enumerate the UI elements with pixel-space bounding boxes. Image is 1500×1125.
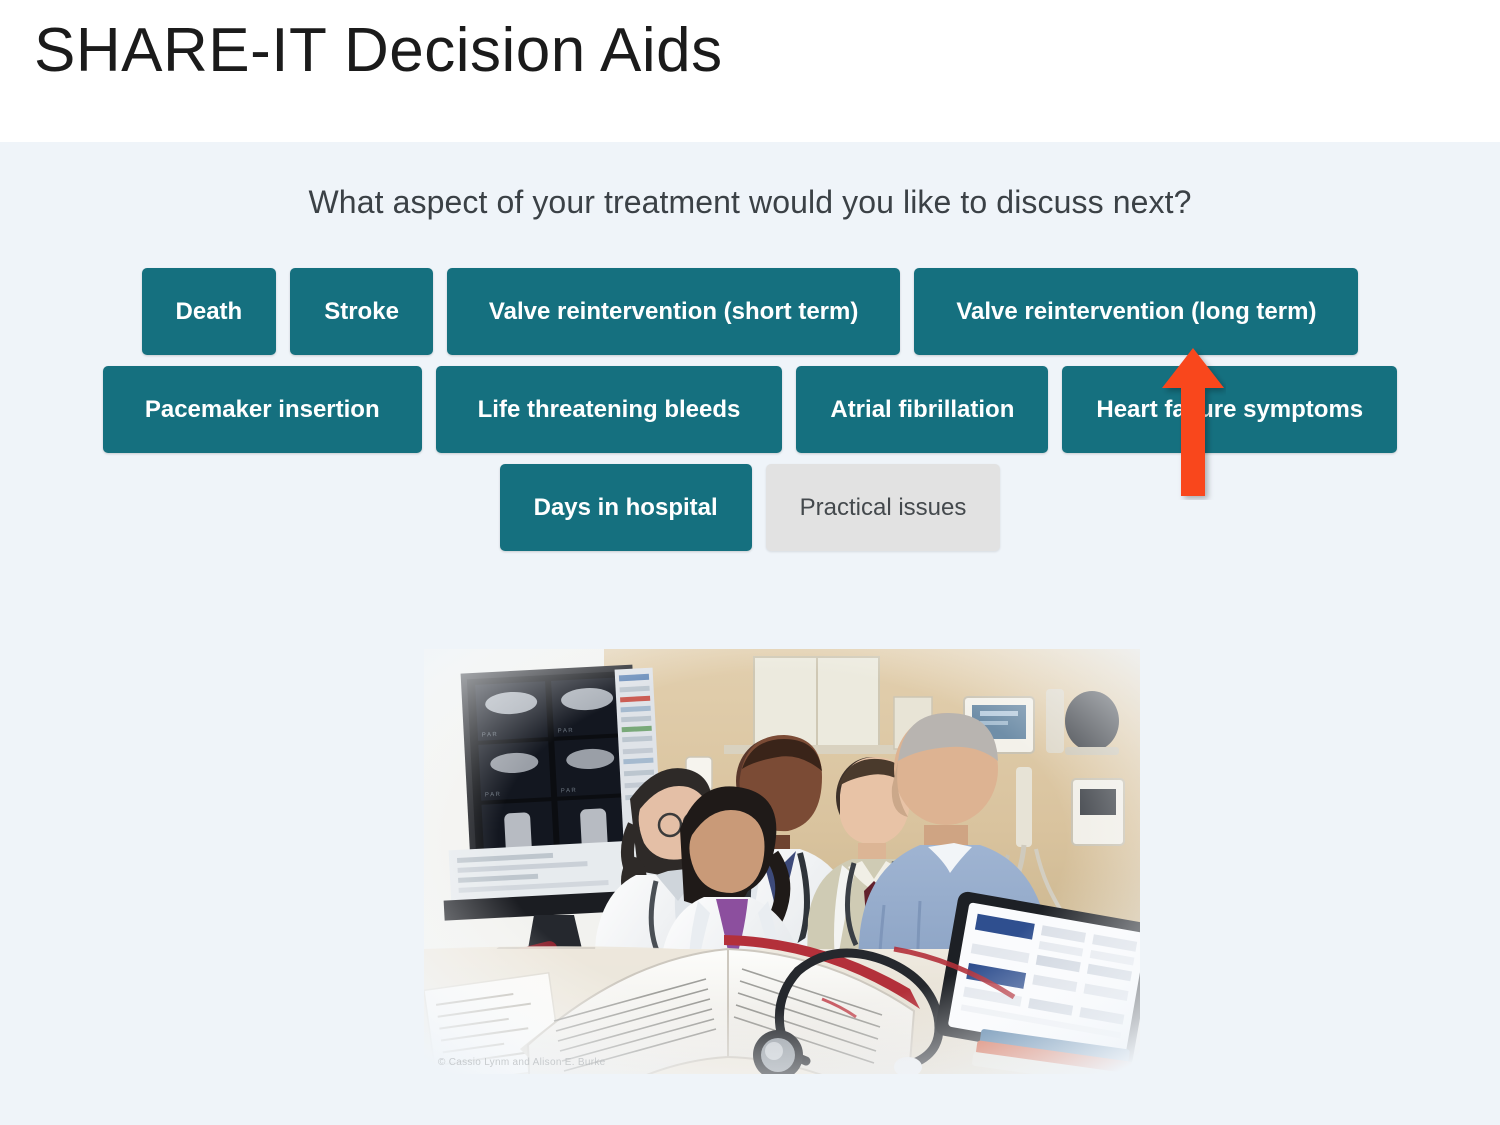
option-button-atrial-fibrillation[interactable]: Atrial fibrillation [796, 366, 1048, 453]
option-button-practical-issues[interactable]: Practical issues [766, 464, 1001, 551]
option-button-heart-failure-symptoms[interactable]: Heart failure symptoms [1062, 366, 1397, 453]
option-button-days-in-hospital[interactable]: Days in hospital [500, 464, 752, 551]
option-row-1: Death Stroke Valve reintervention (short… [70, 268, 1430, 355]
option-button-grid: Death Stroke Valve reintervention (short… [0, 268, 1500, 551]
option-button-death[interactable]: Death [142, 268, 277, 355]
page-title: SHARE-IT Decision Aids [34, 18, 1500, 83]
option-button-valve-reintervention-long-term[interactable]: Valve reintervention (long term) [914, 268, 1358, 355]
content-area: What aspect of your treatment would you … [0, 142, 1500, 1125]
question-prompt: What aspect of your treatment would you … [0, 142, 1500, 221]
illustration-credit: © Cassio Lynm and Alison E. Burke [438, 1057, 606, 1068]
option-row-3: Days in hospital Practical issues [70, 464, 1430, 551]
option-button-pacemaker-insertion[interactable]: Pacemaker insertion [103, 366, 422, 453]
decision-aid-illustration: P A RP A R P A RP A R P A RP A R [424, 649, 1140, 1074]
option-button-life-threatening-bleeds[interactable]: Life threatening bleeds [436, 366, 783, 453]
option-row-2: Pacemaker insertion Life threatening ble… [70, 366, 1430, 453]
app-header: SHARE-IT Decision Aids [0, 0, 1500, 142]
option-button-valve-reintervention-short-term[interactable]: Valve reintervention (short term) [447, 268, 900, 355]
option-button-stroke[interactable]: Stroke [290, 268, 433, 355]
illustration-artwork: P A RP A R P A RP A R P A RP A R [424, 649, 1140, 1074]
